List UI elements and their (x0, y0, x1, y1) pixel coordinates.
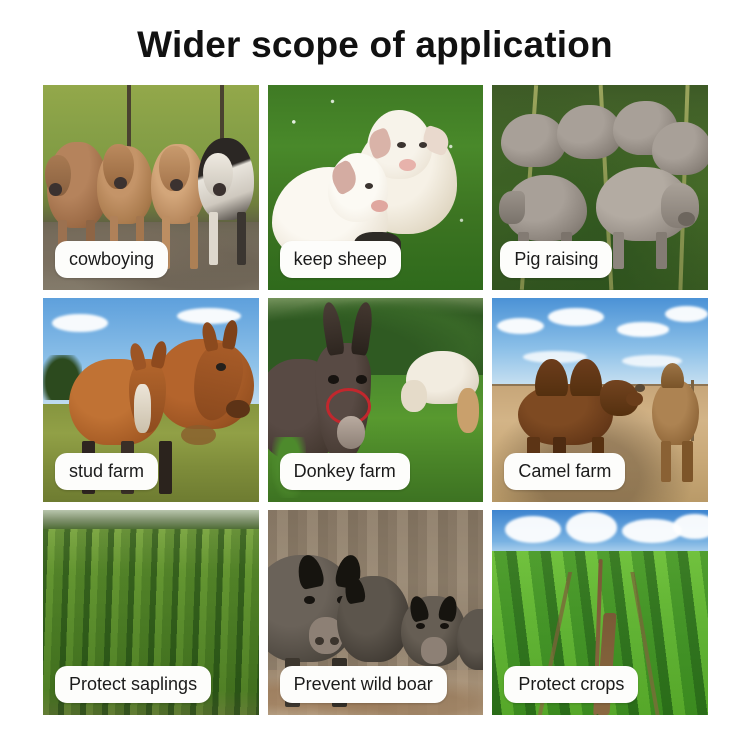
grid-cell-cowboying[interactable]: cowboying (43, 85, 259, 290)
application-scope-infographic: Wider scope of application (0, 0, 750, 750)
cell-caption: Protect crops (504, 666, 638, 703)
grid-cell-prevent-wild-boar[interactable]: Prevent wild boar (268, 510, 484, 715)
cell-caption: Prevent wild boar (280, 666, 447, 703)
cell-caption: keep sheep (280, 241, 401, 278)
grid-cell-keep-sheep[interactable]: keep sheep (268, 85, 484, 290)
cell-caption: Donkey farm (280, 453, 410, 490)
cell-caption: Pig raising (500, 241, 612, 278)
cell-caption: Camel farm (504, 453, 625, 490)
use-case-grid: cowboying keep sheep (43, 85, 708, 715)
grid-cell-donkey-farm[interactable]: Donkey farm (268, 298, 484, 503)
cell-caption: cowboying (55, 241, 168, 278)
cell-caption: Protect saplings (55, 666, 211, 703)
grid-cell-camel-farm[interactable]: Camel farm (492, 298, 708, 503)
grid-cell-protect-crops[interactable]: Protect crops (492, 510, 708, 715)
page-title: Wider scope of application (0, 22, 750, 68)
grid-cell-stud-farm[interactable]: stud farm (43, 298, 259, 503)
grid-cell-pig-raising[interactable]: Pig raising (492, 85, 708, 290)
cell-caption: stud farm (55, 453, 158, 490)
grid-cell-protect-saplings[interactable]: Protect saplings (43, 510, 259, 715)
